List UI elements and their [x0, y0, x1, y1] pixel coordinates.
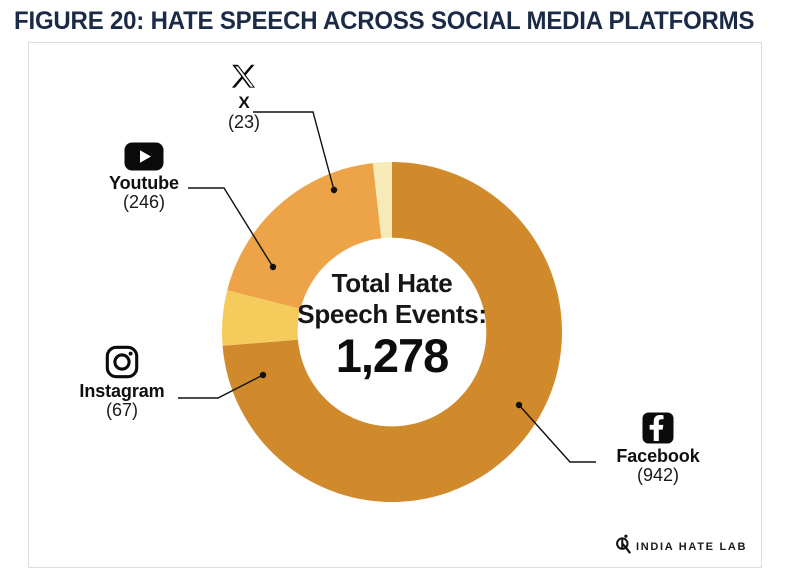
callout-youtube: Youtube (246)	[80, 142, 208, 213]
x-logo-icon	[229, 62, 259, 92]
facebook-logo-icon	[642, 412, 674, 444]
callout-youtube-name: Youtube	[109, 173, 179, 193]
callout-x-name: X	[238, 93, 249, 112]
callout-instagram-count: (67)	[56, 400, 188, 421]
donut-slices	[222, 162, 562, 502]
donut-chart	[0, 0, 785, 576]
india-hate-lab-mark-icon	[614, 534, 631, 559]
callout-x-count: (23)	[196, 112, 292, 133]
footer-logo-text: INDIA HATE LAB	[636, 541, 747, 553]
callout-facebook: Facebook (942)	[593, 412, 723, 486]
youtube-logo-icon	[124, 142, 164, 171]
callout-instagram: Instagram (67)	[56, 345, 188, 421]
instagram-logo-icon	[105, 345, 139, 379]
donut-slice-youtube	[227, 163, 381, 309]
callout-facebook-name: Facebook	[616, 446, 699, 466]
callout-facebook-count: (942)	[593, 465, 723, 486]
callout-instagram-name: Instagram	[79, 381, 164, 401]
callout-youtube-count: (246)	[80, 192, 208, 213]
footer-logo: INDIA HATE LAB	[614, 534, 747, 559]
callout-x: X (23)	[196, 62, 292, 133]
